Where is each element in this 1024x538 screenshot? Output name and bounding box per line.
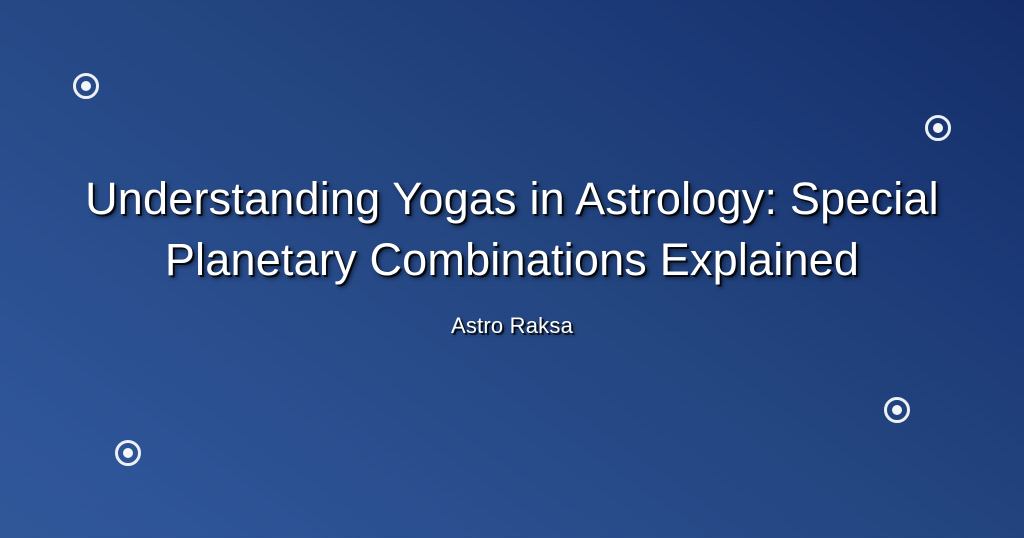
ring-dot-icon [933,123,943,133]
deco-circle-top-left [73,73,99,99]
deco-circle-top-right [925,115,951,141]
slide-title: Understanding Yogas in Astrology: Specia… [28,168,996,290]
ring-dot-icon [892,405,902,415]
title-block: Understanding Yogas in Astrology: Specia… [0,168,1024,341]
title-slide: Understanding Yogas in Astrology: Specia… [0,0,1024,538]
slide-subtitle: Astro Raksa [28,312,996,341]
ring-dot-icon [123,448,133,458]
ring-dot-icon [81,81,91,91]
deco-circle-bottom-left [115,440,141,466]
deco-circle-bottom-right [884,397,910,423]
